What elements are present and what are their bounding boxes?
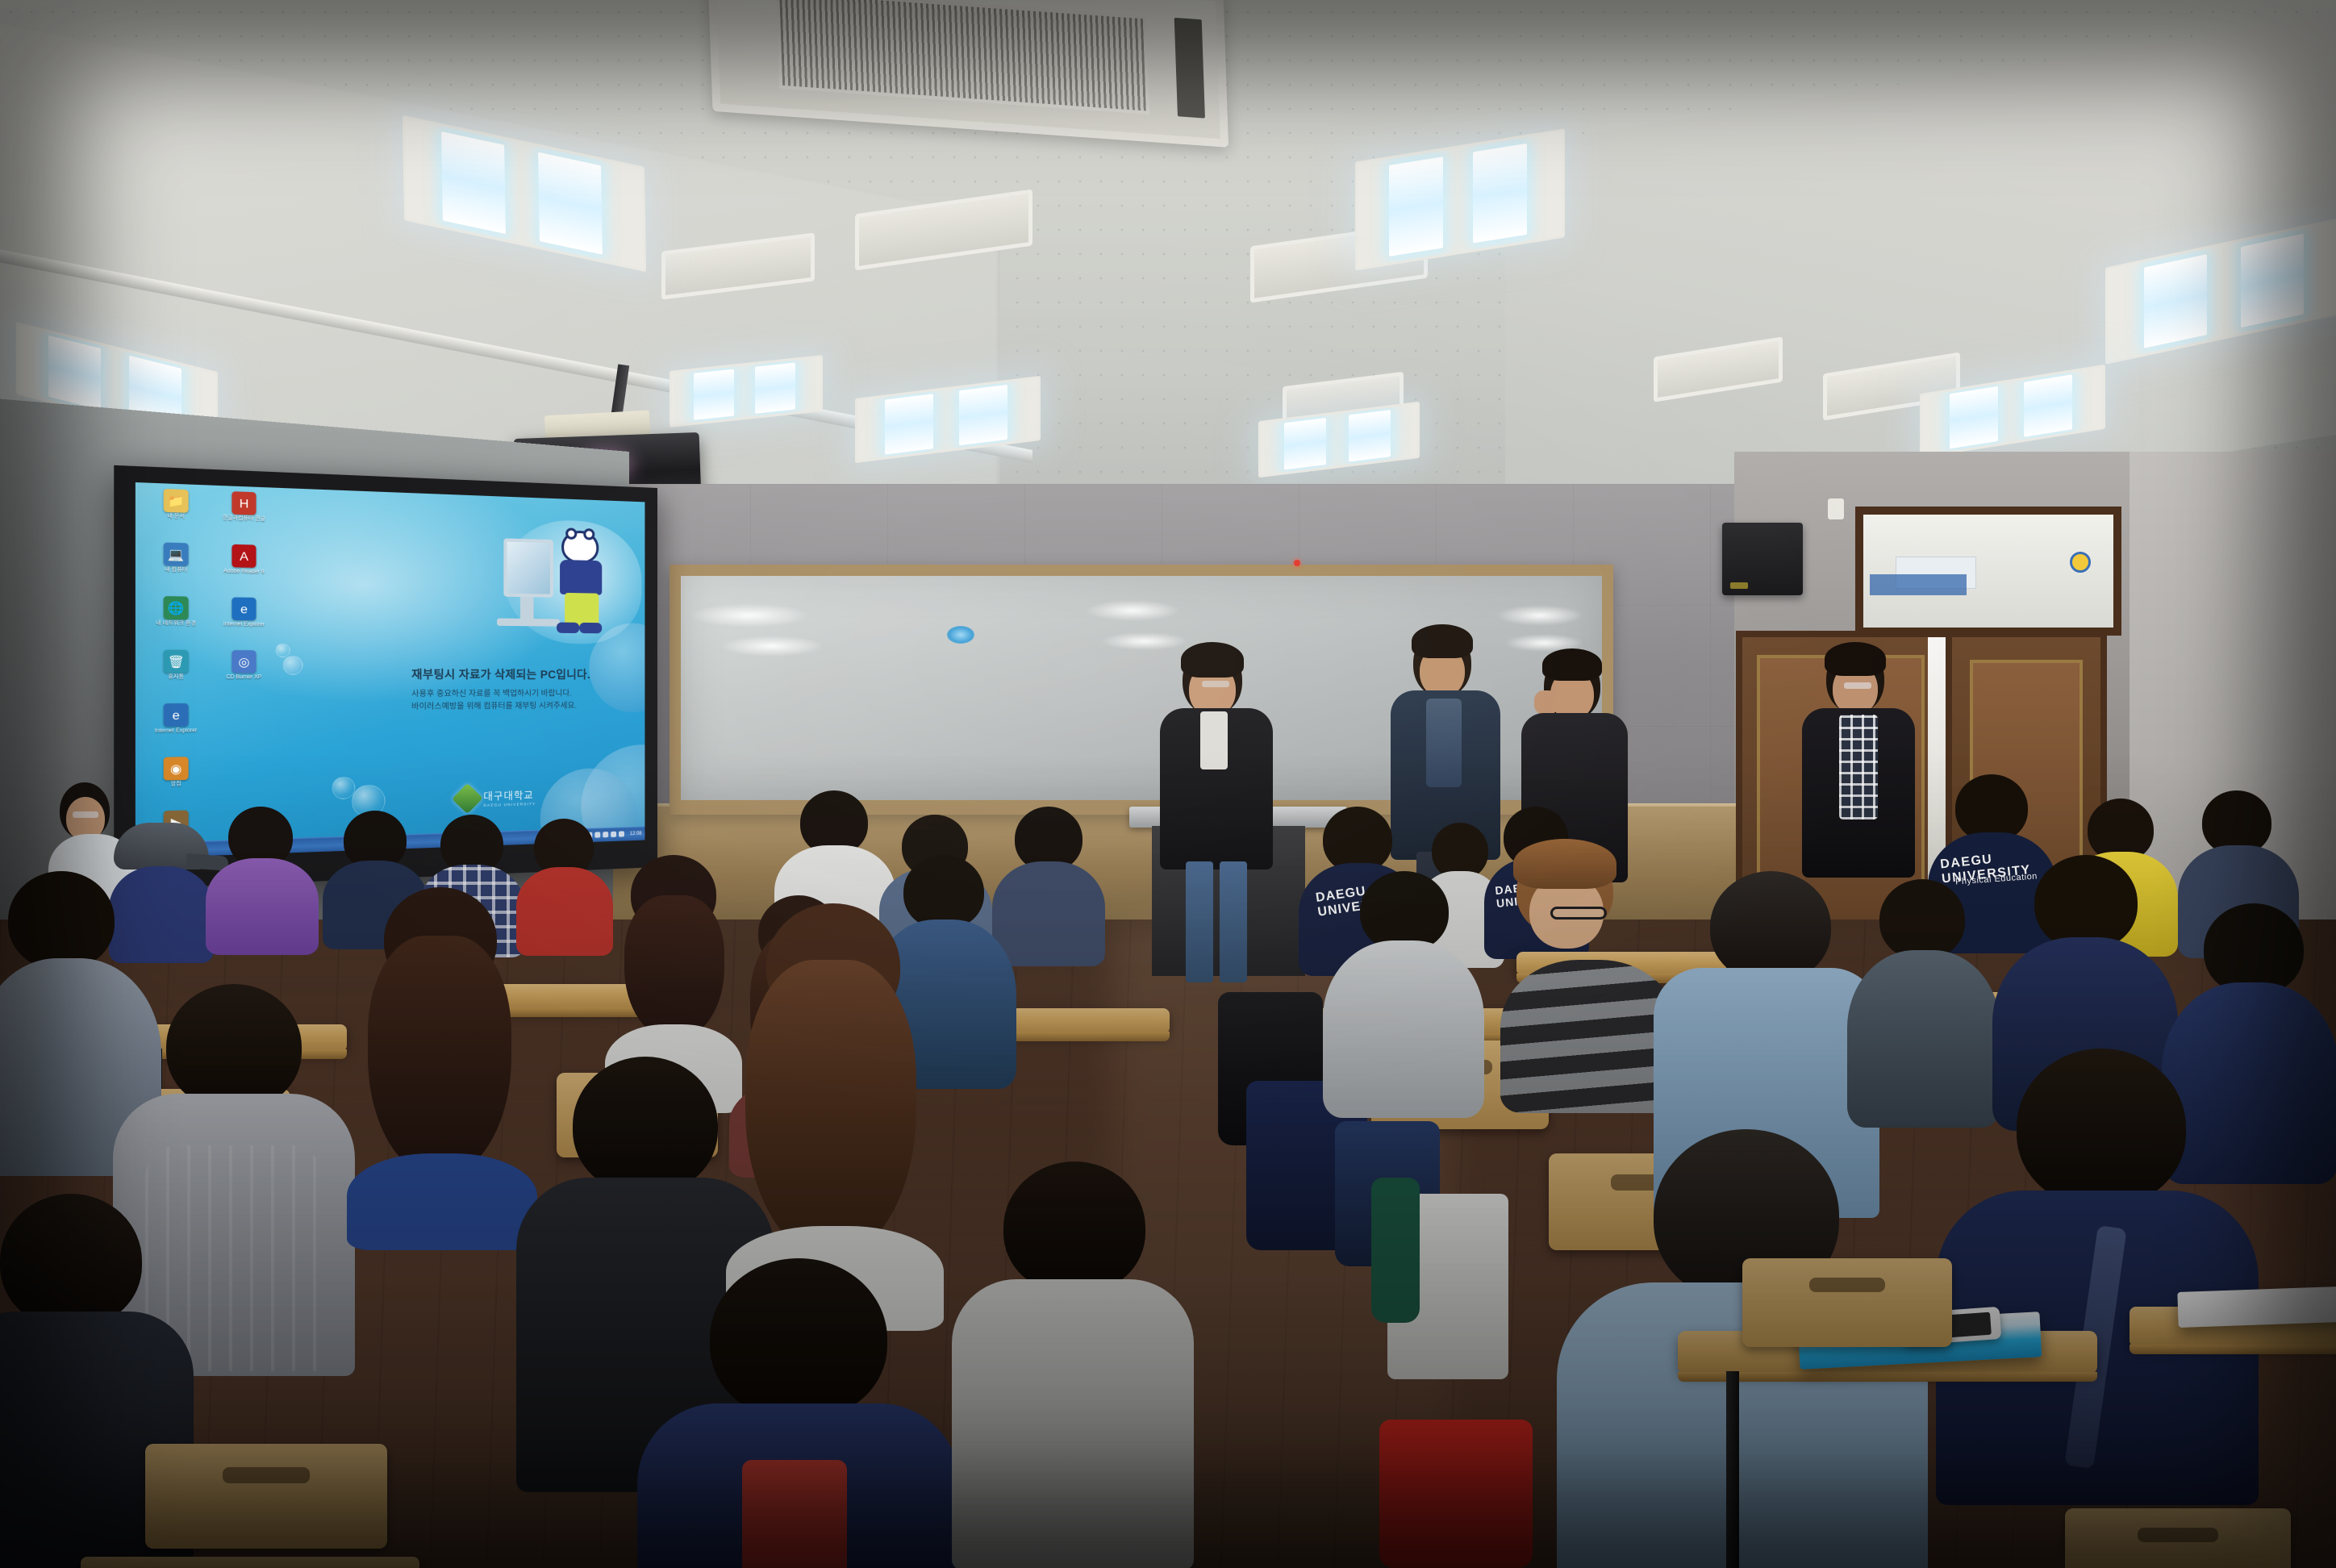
- student-gray-sweater: [1323, 871, 1484, 1113]
- tiger-head-icon: [561, 530, 599, 564]
- university-logo: 대구대학교 DAEGU UNIVERSITY: [457, 786, 536, 810]
- chair-back: [1742, 1258, 1952, 1347]
- adobe-reader-icon: A: [232, 544, 256, 568]
- student-long-hair-front: [339, 887, 540, 1226]
- desktop-icon[interactable]: ◉ 알집: [141, 757, 211, 808]
- desktop-icon[interactable]: 🗑 휴지통: [141, 649, 211, 699]
- red-bag-strap: [742, 1460, 847, 1568]
- projected-desktop: 📁 내 문서 H 한글과컴퓨터 한글 💻 내 컴퓨터 A A: [136, 482, 645, 858]
- desktop-icon[interactable]: 🌐 내 네트워크 환경: [141, 596, 211, 647]
- internet-explorer-icon: e: [232, 597, 256, 620]
- raised-hand: [1534, 690, 1558, 715]
- denim-jacket-front: [1426, 699, 1462, 787]
- ac-grille-icon: [776, 0, 1149, 115]
- student-navy-front-right: [1936, 1049, 2259, 1500]
- desktop-icon[interactable]: e Internet Explorer: [141, 703, 211, 754]
- desktop-icon-grid: 📁 내 문서 H 한글과컴퓨터 한글 💻 내 컴퓨터 A A: [141, 488, 283, 858]
- student-purple-hoodie: [206, 807, 319, 944]
- plaid-shirt: [1839, 715, 1878, 819]
- desktop-notice-text: 재부팅시 자료가 삭제되는 PC입니다. 사용후 중요하신 자료를 꼭 백업하시…: [411, 665, 644, 714]
- hangul-icon: H: [232, 491, 256, 515]
- desktop-icon[interactable]: H 한글과컴퓨터 한글: [211, 490, 277, 542]
- desktop-icon[interactable]: A Adobe Reader 9: [211, 544, 277, 594]
- projector-blue-dot: [947, 626, 974, 644]
- student-front-center: [621, 1258, 960, 1568]
- white-shirt-collar: [1200, 711, 1228, 769]
- presenter-1: [1153, 645, 1283, 984]
- recycle-bin-icon: 🗑: [164, 650, 189, 673]
- alzip-icon: ◉: [164, 757, 189, 780]
- student-auburn-hair-front: [710, 903, 952, 1307]
- desktop-icon[interactable]: e Internet Explorer: [211, 597, 277, 647]
- motion-sensor-icon: [1828, 498, 1844, 519]
- internet-explorer-icon: e: [164, 703, 189, 727]
- folder-icon: 📁: [164, 489, 189, 513]
- network-icon: 🌐: [164, 596, 189, 619]
- cd-burner-icon: ◎: [232, 650, 256, 673]
- daegu-university-emblem-icon: [452, 783, 483, 814]
- student-striped-sweater: [1500, 839, 1678, 1105]
- desk-leg: [1726, 1371, 1739, 1568]
- student-front-right-center: [952, 1161, 1194, 1565]
- front-desk-left: [81, 1557, 419, 1568]
- corridor-shelf: [1870, 574, 1967, 595]
- chair-back: [2065, 1508, 2291, 1568]
- ac-side-vent: [1174, 18, 1205, 119]
- green-jacket-lining: [1371, 1178, 1420, 1323]
- glasses-icon: [1844, 682, 1871, 689]
- transom-window: [1855, 507, 2121, 636]
- network-tray-icon[interactable]: [619, 831, 624, 836]
- tiger-mascot-illustration: [490, 523, 637, 657]
- desktop-icon[interactable]: ◎ CD Burner XP: [211, 650, 277, 700]
- wall-speaker: [1722, 523, 1803, 595]
- chair-back: [145, 1444, 387, 1549]
- white-notebook: [2177, 1286, 2336, 1328]
- classroom-photo: 📁 내 문서 H 한글과컴퓨터 한글 💻 내 컴퓨터 A A: [0, 0, 2336, 1568]
- desktop-icon[interactable]: 💻 내 컴퓨터: [141, 542, 211, 594]
- my-computer-icon: 💻: [164, 543, 189, 567]
- window-sticker-icon: [2070, 552, 2091, 573]
- glasses-icon: [1202, 681, 1229, 687]
- glasses-icon: [1550, 907, 1607, 920]
- desktop-icon[interactable]: 📁 내 문서: [141, 488, 211, 540]
- glasses-icon: [73, 811, 98, 818]
- backpack-red: [1379, 1420, 1533, 1568]
- taskbar-clock[interactable]: 12:08: [630, 831, 642, 836]
- indicator-led-icon: [1294, 560, 1300, 566]
